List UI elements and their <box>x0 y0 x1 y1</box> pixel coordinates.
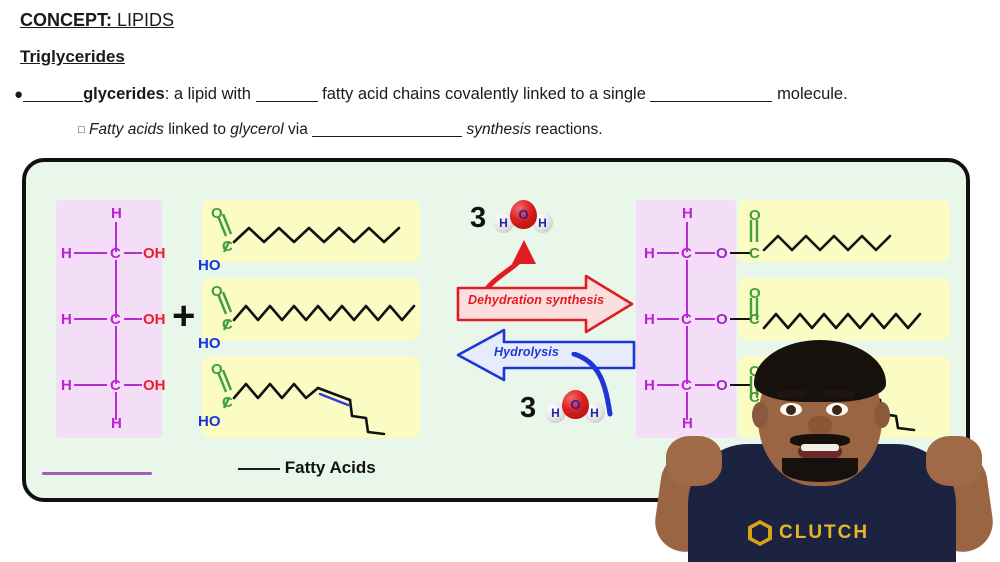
presenter-pupil-left <box>786 405 796 415</box>
brand-text: CLUTCH <box>779 522 869 544</box>
bond-horizontal <box>124 318 142 320</box>
hydrolysis-label: Hydrolysis <box>494 345 559 359</box>
section-subheading: Triglycerides <box>20 47 125 67</box>
blank-prefix <box>23 101 83 102</box>
presenter-beard <box>782 458 858 482</box>
bond-horizontal <box>74 318 107 320</box>
glycerol-atom-c-2: C <box>110 312 121 327</box>
presenter-teeth <box>801 444 839 451</box>
bond-horizontal <box>124 384 142 386</box>
presenter-fist-right <box>926 436 982 486</box>
blank-reaction-type <box>312 136 462 137</box>
presenter-pupil-right <box>832 405 842 415</box>
fatty-acids-caption: Fatty Acids <box>238 458 376 478</box>
glycerol-atom-h-left-1: H <box>61 246 72 261</box>
presenter-nose <box>808 416 832 436</box>
fatty-acid-1-chain <box>202 200 432 270</box>
presenter-hair <box>754 340 886 402</box>
glycerol-atom-h-left-2: H <box>61 312 72 327</box>
italic-glycerol: glycerol <box>230 121 283 138</box>
glycerol-hydroxyl-2: OH <box>143 312 166 327</box>
fatty-acid-3-chain <box>202 356 432 446</box>
glycerol-caption-blank <box>42 472 152 475</box>
bond-horizontal <box>74 384 107 386</box>
bond-horizontal <box>695 318 715 320</box>
dehydration-synthesis-label: Dehydration synthesis <box>468 293 604 307</box>
glycerol-hydroxyl-1: OH <box>143 246 166 261</box>
hexagon-icon <box>748 520 772 546</box>
water-bottom-count: 3 <box>520 394 536 423</box>
water-oxygen: O <box>562 390 589 419</box>
plus-sign: + <box>172 296 195 336</box>
product-chain-1 <box>738 200 950 262</box>
glycerol-atom-h-bottom: H <box>111 416 122 431</box>
product-atom-h-left-1: H <box>644 246 655 261</box>
bond-vertical <box>115 326 117 384</box>
lecture-notes: CONCEPT: LIPIDS Triglycerides ●glyceride… <box>0 0 1000 158</box>
presenter-ear-left <box>752 402 768 428</box>
definition-part-1: : a lipid with <box>165 85 251 103</box>
bond-vertical <box>686 260 688 318</box>
square-bullet-glyph: □ <box>78 124 85 136</box>
italic-fatty-acids: Fatty acids <box>89 121 164 138</box>
bond-horizontal <box>124 252 142 254</box>
glycerol-atom-c-3: C <box>110 378 121 393</box>
fatty-acid-2-chain <box>202 278 432 348</box>
presenter-shirt-logo: CLUTCH <box>748 518 898 548</box>
water-molecule-top: H H O <box>492 200 554 234</box>
water-top-count: 3 <box>470 204 486 233</box>
glycerol-atom-h-top: H <box>111 206 122 221</box>
glycerol-hydroxyl-3: OH <box>143 378 166 393</box>
definition-part-2: fatty acid chains covalently linked to a… <box>322 85 646 103</box>
concept-topic: LIPIDS <box>117 10 174 30</box>
product-chain-2 <box>738 278 950 340</box>
presenter-fist-left <box>666 436 722 486</box>
product-atom-c-2: C <box>681 312 692 327</box>
glycerol-atom-h-left-3: H <box>61 378 72 393</box>
concept-label: CONCEPT: <box>20 10 112 30</box>
bond-horizontal <box>657 318 679 320</box>
bullet-glyph: ● <box>14 86 23 103</box>
blank-count <box>256 101 318 102</box>
plain-via: via <box>288 121 308 138</box>
presenter-video-overlay: CLUTCH <box>640 340 1000 562</box>
subbullet-linkage: □ Fatty acids linked to glycerol via syn… <box>78 121 603 139</box>
fatty-acids-caption-text: Fatty Acids <box>285 458 376 477</box>
plain-linked-to: linked to <box>168 121 226 138</box>
product-atom-h-top: H <box>682 206 693 221</box>
definition-part-3: molecule. <box>777 85 848 103</box>
product-atom-c-1: C <box>681 246 692 261</box>
product-atom-h-left-2: H <box>644 312 655 327</box>
presenter-ear-right <box>874 402 890 428</box>
concept-heading: CONCEPT: LIPIDS <box>20 10 174 31</box>
blank-molecule <box>650 101 772 102</box>
italic-synthesis: synthesis <box>466 121 531 138</box>
glycerol-atom-c-1: C <box>110 246 121 261</box>
product-ester-oxygen-1: O <box>716 246 728 261</box>
plain-reactions: reactions. <box>535 121 602 138</box>
bond-vertical <box>115 260 117 318</box>
water-oxygen: O <box>510 200 537 229</box>
bond-horizontal <box>657 252 679 254</box>
bond-horizontal <box>695 252 715 254</box>
product-ester-oxygen-2: O <box>716 312 728 327</box>
bullet-definition: ●glycerides: a lipid with fatty acid cha… <box>14 85 848 104</box>
water-molecule-bottom: H H O <box>544 390 606 424</box>
bond-horizontal <box>74 252 107 254</box>
term-glycerides: glycerides <box>83 85 165 103</box>
fatty-acids-blank <box>238 468 280 470</box>
